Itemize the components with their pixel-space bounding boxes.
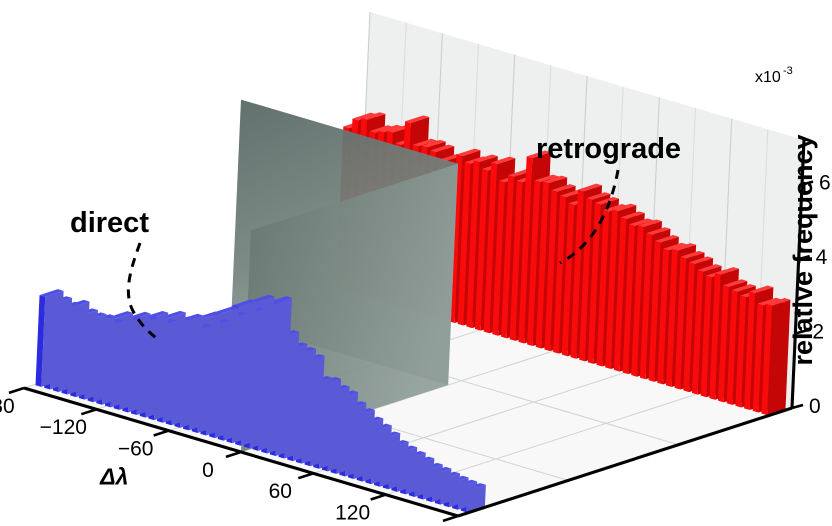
x-tick-label-3: 0 — [202, 459, 214, 482]
x-tick-label-2: −60 — [118, 438, 154, 461]
x-tick-2 — [154, 431, 169, 436]
x-tick-label-5: 120 — [335, 502, 370, 525]
annotation-label-retrograde: retrograde — [536, 133, 681, 165]
multiplier-base: x10 — [755, 69, 781, 86]
y-axis-title: relative frequency — [788, 134, 818, 365]
y-axis-title-group: relative frequency — [788, 134, 818, 365]
y-tick-label-0: 0 — [809, 395, 821, 418]
y-tick-label-3: 6 — [819, 172, 831, 195]
x-tick-0 — [9, 388, 24, 393]
chart-canvas: −180−120−60060120180 0246 Δλ relative fr… — [0, 0, 832, 526]
bar-direct-0 — [36, 289, 64, 387]
y-axis-multiplier: x10 -3 — [755, 65, 793, 86]
x-tick-4 — [298, 473, 313, 478]
x-tick-label-4: 60 — [269, 480, 292, 503]
x-tick-3 — [226, 452, 241, 457]
x-axis-title: Δλ — [99, 464, 128, 490]
x-tick-label-0: −180 — [0, 395, 15, 418]
x-tick-1 — [81, 409, 96, 414]
x-tick-6 — [443, 516, 458, 521]
figure-root: −180−120−60060120180 0246 Δλ relative fr… — [0, 0, 832, 526]
x-tick-label-1: −120 — [40, 416, 87, 439]
multiplier-exponent: -3 — [783, 65, 793, 77]
x-tick-5 — [371, 495, 386, 500]
annotation-label-direct: direct — [70, 207, 149, 239]
